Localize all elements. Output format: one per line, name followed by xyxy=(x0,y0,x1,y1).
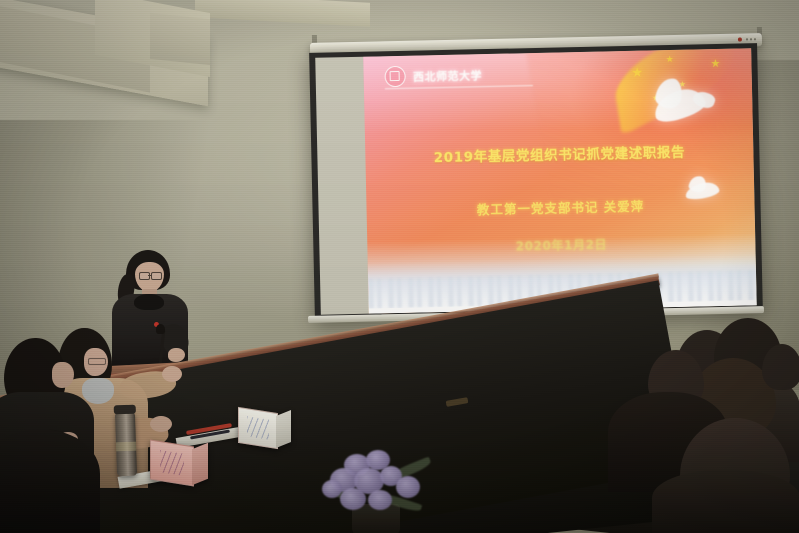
tent-card-side xyxy=(192,443,208,485)
slide-logo: 西北师范大学 xyxy=(385,64,482,87)
attendee-hand xyxy=(150,416,172,432)
tent-card-front xyxy=(150,440,194,487)
tent-card-front xyxy=(238,407,278,449)
ceiling-soffit-edge xyxy=(150,13,210,65)
presenter-hand xyxy=(168,348,185,362)
presenter-collar xyxy=(134,294,164,310)
meeting-room-photo: ★ ★ ★ ★ ★ 西北师范大学 2019年基层党组织书记抓党建述职报告 教工第… xyxy=(0,0,799,533)
university-seal-icon xyxy=(385,66,406,87)
chrysanthemum-bouquet xyxy=(318,446,442,533)
tent-card-handwriting xyxy=(160,450,184,477)
eyeglasses-icon xyxy=(139,272,150,280)
attendee-scarf xyxy=(82,378,114,404)
attendee-hand xyxy=(162,366,182,382)
flower-bloom xyxy=(368,490,392,510)
flower-bloom xyxy=(396,476,420,498)
flower-bloom xyxy=(340,488,366,510)
projection-screen: ★ ★ ★ ★ ★ 西北师范大学 2019年基层党组织书记抓党建述职报告 教工第… xyxy=(309,43,763,321)
attendee-shoulders-left xyxy=(0,430,100,533)
slide-date: 2020年1月2日 xyxy=(367,232,755,257)
attendee-shoulders-3 xyxy=(652,470,799,533)
thermos-flask-silver xyxy=(115,412,137,477)
flag-star-icon: ★ xyxy=(666,55,674,64)
eyeglasses-bridge xyxy=(148,275,151,276)
eyeglasses-icon xyxy=(88,358,106,365)
powerpoint-slide: ★ ★ ★ ★ ★ 西北师范大学 2019年基层党组织书记抓党建述职报告 教工第… xyxy=(363,48,757,313)
flask-band xyxy=(116,442,136,452)
attendee-head-far xyxy=(762,344,799,390)
flag-star-icon: ★ xyxy=(710,59,720,70)
flask-cap xyxy=(114,405,136,415)
roller-vent-icon xyxy=(746,38,756,40)
university-name: 西北师范大学 xyxy=(413,67,482,85)
microphone-head-icon xyxy=(156,324,165,334)
screen-surface: ★ ★ ★ ★ ★ 西北师范大学 2019年基层党组织书记抓党建述职报告 教工第… xyxy=(315,48,757,314)
roller-led-icon xyxy=(738,38,742,42)
tent-card-handwriting xyxy=(247,416,268,440)
tent-card-side xyxy=(276,410,291,448)
flower-bloom xyxy=(322,480,342,498)
slide-subtitle: 教工第一党支部书记 关爱萍 xyxy=(366,193,754,220)
eyeglasses-icon xyxy=(151,272,162,280)
flag-star-icon: ★ xyxy=(631,66,643,79)
